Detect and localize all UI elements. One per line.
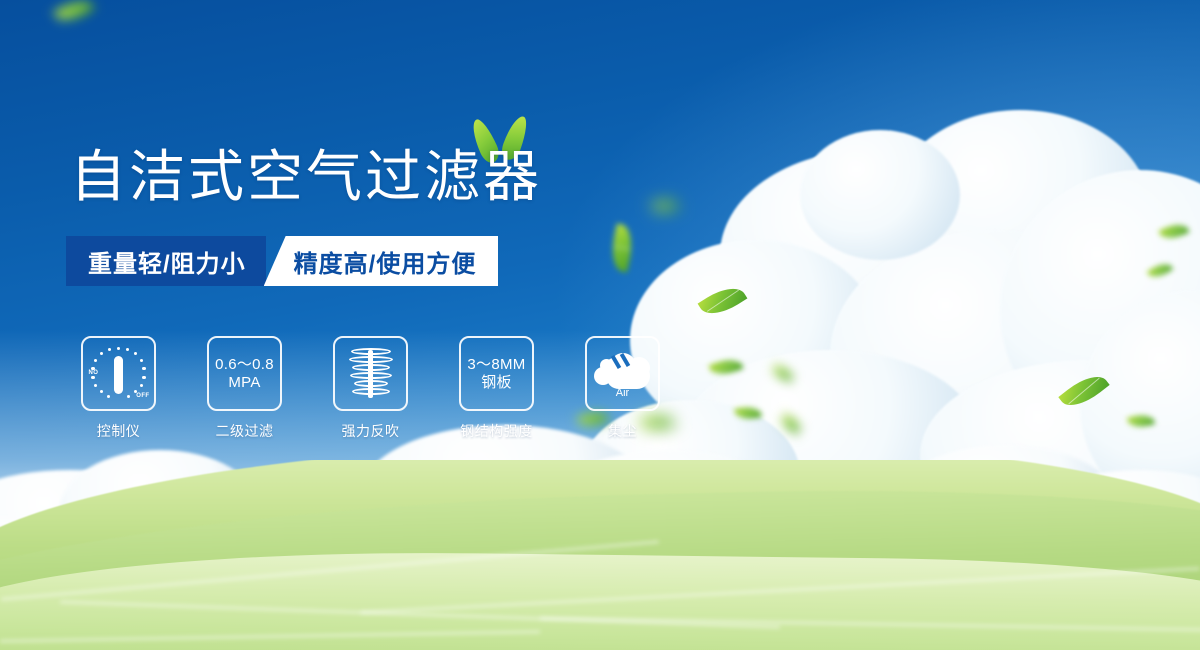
page-title: 自洁式空气过滤器 [70,146,542,208]
subtitle-bar: 重量轻/阻力小 精度高/使用方便 [66,236,498,286]
feature-list: NO OFF 控制仪 0.6～0.8 MPA 二级过滤 [81,336,660,441]
dial-label-off: OFF [136,393,149,399]
feature-icon-box: Air [585,336,660,411]
feature-item-steel[interactable]: 3～8MM 钢板 钢结构强度 [459,336,534,441]
feature-label: 强力反吹 [342,421,400,441]
rings-icon [346,346,396,402]
air-label: Air [594,387,652,399]
feature-label: 二级过滤 [216,421,274,441]
subtitle-segment-left: 重量轻/阻力小 [66,236,266,286]
subtitle-segment-right: 精度高/使用方便 [264,236,499,286]
product-banner: 自洁式空气过滤器 重量轻/阻力小 精度高/使用方便 [0,0,1200,650]
feature-icon-box: NO OFF [81,336,156,411]
feature-label: 控制仪 [97,421,141,441]
pressure-icon-line1: 0.6～0.8 [215,356,274,374]
steel-icon-line1: 3～8MM [467,356,525,374]
feature-label: 集尘 [608,421,637,441]
pressure-icon-line2: MPA [228,374,260,392]
dial-label-no: NO [89,370,99,376]
air-cloud-icon: Air [594,351,652,397]
feature-icon-box: 0.6～0.8 MPA [207,336,282,411]
feature-item-dust[interactable]: Air 集尘 [585,336,660,441]
feature-label: 钢结构强度 [460,421,533,441]
feature-item-blowback[interactable]: 强力反吹 [333,336,408,441]
grass-field [0,460,1200,650]
feature-item-pressure[interactable]: 0.6～0.8 MPA 二级过滤 [207,336,282,441]
steel-icon-line2: 钢板 [481,374,512,392]
feature-icon-box: 3～8MM 钢板 [459,336,534,411]
feature-icon-box [333,336,408,411]
dial-icon: NO OFF [90,345,148,403]
feature-item-controller[interactable]: NO OFF 控制仪 [81,336,156,441]
